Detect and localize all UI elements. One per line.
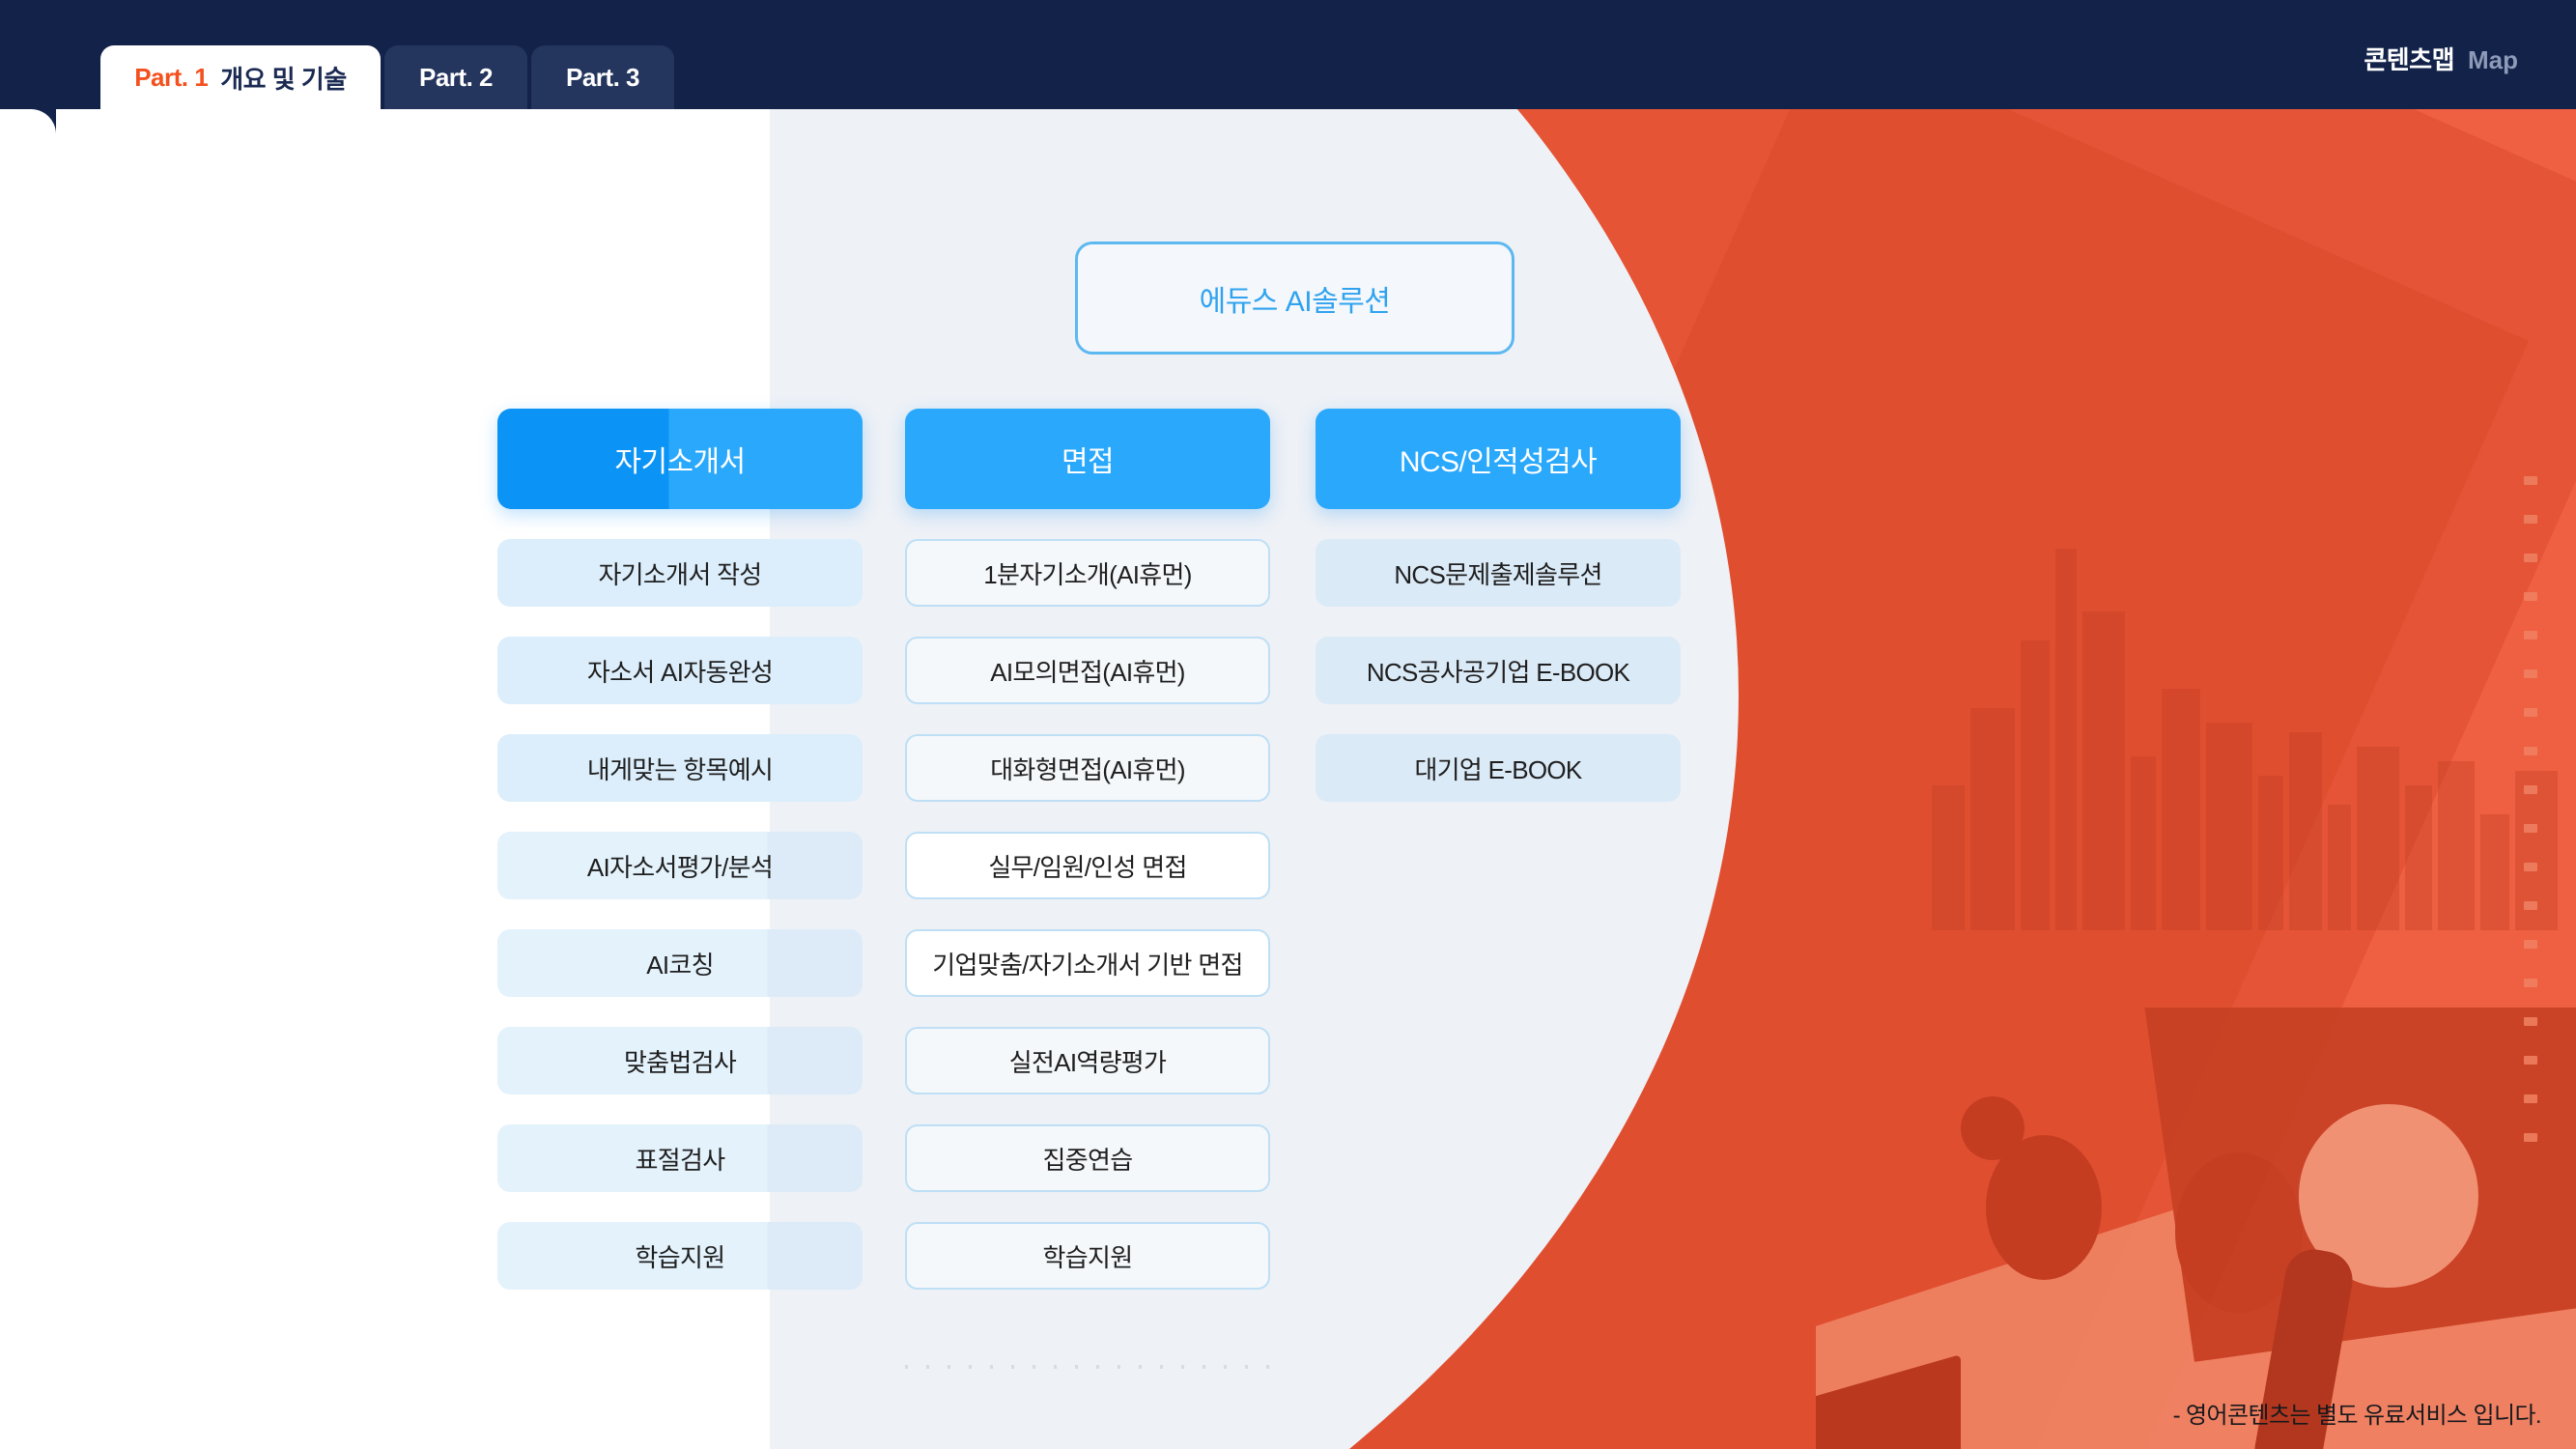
content-map-area: 에듀스 AI솔루션 자기소개서 자기소개서 작성 자소서 AI자동완성 내게맞는… bbox=[0, 109, 2576, 1449]
navbar-corner-notch bbox=[0, 109, 56, 142]
node-col1-2[interactable]: 자소서 AI자동완성 bbox=[497, 637, 863, 704]
node-col1-6[interactable]: 맞춤법검사 bbox=[497, 1027, 863, 1094]
tab-part-1-sub-label: 개요 및 기술 bbox=[220, 60, 347, 96]
node-col3-2[interactable]: NCS공사공기업 E-BOOK bbox=[1316, 637, 1681, 704]
node-col1-3[interactable]: 내게맞는 항목예시 bbox=[497, 734, 863, 802]
node-col1-8[interactable]: 학습지원 bbox=[497, 1222, 863, 1290]
slide-stage: Part. 1 개요 및 기술 Part. 2 Part. 3 콘텐츠맵 Map… bbox=[0, 0, 2576, 1449]
tab-part-1[interactable]: Part. 1 개요 및 기술 bbox=[100, 45, 381, 109]
contents-map-title-ko: 콘텐츠맵 bbox=[2364, 41, 2454, 76]
contents-map-title: 콘텐츠맵 Map bbox=[2364, 41, 2518, 76]
tab-part-2[interactable]: Part. 2 bbox=[384, 45, 527, 109]
root-node-edus-ai-solution[interactable]: 에듀스 AI솔루션 bbox=[1075, 241, 1514, 355]
dashed-divider-below-interview bbox=[905, 1365, 1270, 1369]
node-col2-3[interactable]: 대화형면접(AI휴먼) bbox=[905, 734, 1270, 802]
node-col3-1[interactable]: NCS문제출제솔루션 bbox=[1316, 539, 1681, 607]
tab-part-2-part-label: Part. 2 bbox=[419, 63, 493, 93]
node-col1-7[interactable]: 표절검사 bbox=[497, 1124, 863, 1192]
column-header-self-introduction[interactable]: 자기소개서 bbox=[497, 409, 863, 509]
column-self-introduction: 자기소개서 자기소개서 작성 자소서 AI자동완성 내게맞는 항목예시 AI자소… bbox=[497, 409, 863, 1290]
contents-map-title-en: Map bbox=[2468, 45, 2518, 75]
node-col2-4[interactable]: 실무/임원/인성 면접 bbox=[905, 832, 1270, 899]
column-ncs-aptitude: NCS/인적성검사 NCS문제출제솔루션 NCS공사공기업 E-BOOK 대기업… bbox=[1316, 409, 1681, 802]
node-col2-6[interactable]: 실전AI역량평가 bbox=[905, 1027, 1270, 1094]
column-header-interview[interactable]: 면접 bbox=[905, 409, 1270, 509]
node-col1-1[interactable]: 자기소개서 작성 bbox=[497, 539, 863, 607]
node-col2-8[interactable]: 학습지원 bbox=[905, 1222, 1270, 1290]
tab-bar: Part. 1 개요 및 기술 Part. 2 Part. 3 bbox=[100, 45, 674, 109]
node-col2-2[interactable]: AI모의면접(AI휴먼) bbox=[905, 637, 1270, 704]
node-col3-3[interactable]: 대기업 E-BOOK bbox=[1316, 734, 1681, 802]
column-header-ncs-aptitude[interactable]: NCS/인적성검사 bbox=[1316, 409, 1681, 509]
node-col2-1[interactable]: 1분자기소개(AI휴먼) bbox=[905, 539, 1270, 607]
column-interview: 면접 1분자기소개(AI휴먼) AI모의면접(AI휴먼) 대화형면접(AI휴먼)… bbox=[905, 409, 1270, 1290]
node-col2-7[interactable]: 집중연습 bbox=[905, 1124, 1270, 1192]
tab-part-1-part-label: Part. 1 bbox=[134, 63, 208, 93]
footnote-paid-service: - 영어콘텐츠는 별도 유료서비스 입니다. bbox=[2173, 1396, 2541, 1430]
node-col1-5[interactable]: AI코칭 bbox=[497, 929, 863, 997]
tab-part-3[interactable]: Part. 3 bbox=[531, 45, 674, 109]
node-col2-5[interactable]: 기업맞춤/자기소개서 기반 면접 bbox=[905, 929, 1270, 997]
tab-part-3-part-label: Part. 3 bbox=[566, 63, 639, 93]
node-col1-4[interactable]: AI자소서평가/분석 bbox=[497, 832, 863, 899]
